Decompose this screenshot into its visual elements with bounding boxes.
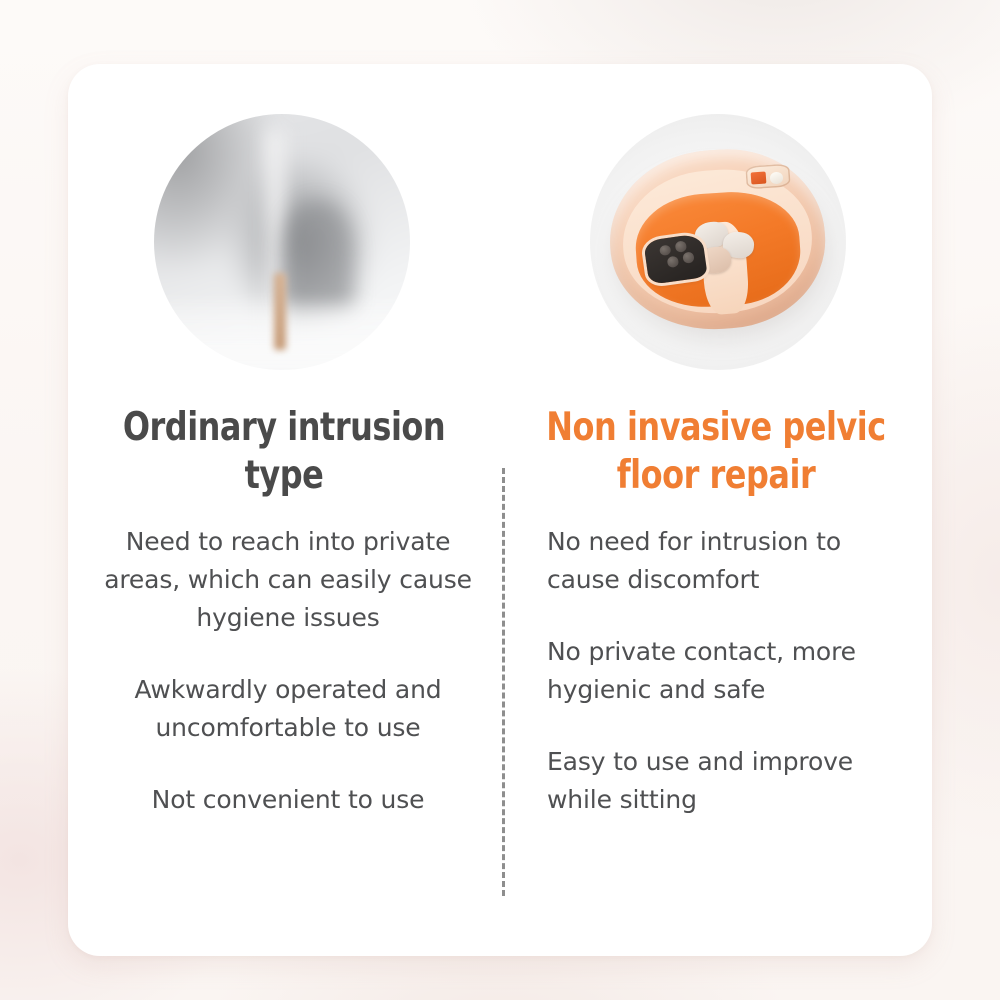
noninvasive-point: Easy to use and improve while sitting [533, 743, 901, 819]
scene-dark-shape [282, 201, 354, 309]
scene-tan-object [274, 273, 285, 350]
product-indicator-orange-icon [751, 171, 767, 184]
product-control-panel [644, 233, 708, 284]
column-divider [502, 468, 505, 896]
noninvasive-heading: Non invasive pelvic floor repair [539, 404, 893, 499]
ordinary-method-image [154, 114, 410, 370]
comparison-column-ordinary: Ordinary intrusion type Need to reach in… [68, 64, 500, 956]
noninvasive-points-list: No need for intrusion to cause discomfor… [500, 523, 932, 819]
comparison-column-noninvasive: Non invasive pelvic floor repair No need… [500, 64, 932, 956]
noninvasive-point: No private contact, more hygienic and sa… [533, 633, 901, 709]
ordinary-point: Awkwardly operated and uncomfortable to … [104, 671, 472, 747]
ordinary-point: Not convenient to use [104, 781, 472, 819]
control-button-icon [660, 244, 673, 256]
comparison-columns: Ordinary intrusion type Need to reach in… [68, 64, 932, 956]
ordinary-heading: Ordinary intrusion type [107, 404, 461, 499]
control-button-icon [675, 241, 688, 253]
product-photo [590, 114, 846, 370]
ordinary-point: Need to reach into private areas, which … [104, 523, 472, 637]
noninvasive-point: No need for intrusion to cause discomfor… [533, 523, 901, 599]
infographic-stage: Ordinary intrusion type Need to reach in… [0, 0, 1000, 1000]
control-button-icon [667, 256, 680, 268]
comparison-card: Ordinary intrusion type Need to reach in… [68, 64, 932, 956]
pelvic-trainer-product-image [590, 114, 846, 370]
control-button-icon [682, 252, 695, 264]
ordinary-points-list: Need to reach into private areas, which … [68, 523, 500, 819]
